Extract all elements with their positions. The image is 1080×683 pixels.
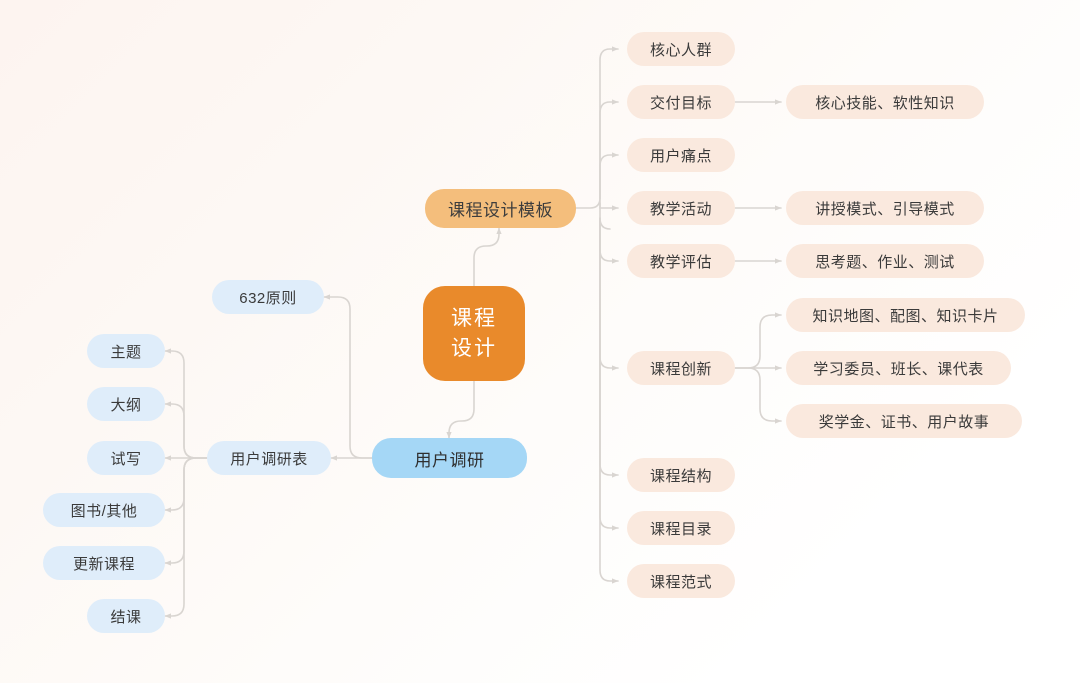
node-survey-trial-writing[interactable]: 试写 [87,441,165,475]
node-label: 思考题、作业、测试 [815,251,955,272]
node-course-structure[interactable]: 课程结构 [627,458,735,492]
node-user-survey-form[interactable]: 用户调研表 [207,441,331,475]
node-label: 大纲 [110,394,141,415]
node-label: 核心人群 [650,39,712,60]
node-user-research[interactable]: 用户调研 [372,438,527,478]
node-delivery-goal-detail[interactable]: 核心技能、软性知识 [786,85,984,119]
node-core-audience[interactable]: 核心人群 [627,32,735,66]
node-label: 课程范式 [650,571,712,592]
node-course-catalog[interactable]: 课程目录 [627,511,735,545]
node-label: 用户调研表 [230,448,308,469]
node-teaching-activities-detail[interactable]: 讲授模式、引导模式 [786,191,984,225]
node-root[interactable]: 课程 设计 [423,286,525,381]
node-label: 教学活动 [650,198,712,219]
node-teaching-activities[interactable]: 教学活动 [627,191,735,225]
node-root-line1: 课程 [451,304,497,334]
node-user-pain-points[interactable]: 用户痛点 [627,138,735,172]
node-label: 学习委员、班长、课代表 [813,358,984,379]
node-survey-topic[interactable]: 主题 [87,334,165,368]
node-label: 632原则 [239,287,297,308]
node-label: 讲授模式、引导模式 [815,198,955,219]
node-632-principle[interactable]: 632原则 [212,280,324,314]
node-label: 结课 [110,606,141,627]
node-delivery-goal[interactable]: 交付目标 [627,85,735,119]
node-label: 课程设计模板 [448,196,553,221]
node-course-innovation[interactable]: 课程创新 [627,351,735,385]
node-label: 主题 [110,341,141,362]
node-label: 试写 [110,448,141,469]
node-innovation-roles[interactable]: 学习委员、班长、课代表 [786,351,1011,385]
node-innovation-knowledge-map[interactable]: 知识地图、配图、知识卡片 [786,298,1025,332]
node-survey-books-other[interactable]: 图书/其他 [43,493,165,527]
node-label: 更新课程 [73,553,135,574]
node-label: 课程结构 [650,465,712,486]
node-teaching-assessment[interactable]: 教学评估 [627,244,735,278]
node-label: 用户痛点 [650,145,712,166]
node-label: 奖学金、证书、用户故事 [819,411,990,432]
mindmap-canvas: 课程 设计 课程设计模板 用户调研 核心人群 交付目标 用户痛点 教学活动 教学… [0,0,1080,683]
node-label: 课程目录 [650,518,712,539]
node-innovation-incentives[interactable]: 奖学金、证书、用户故事 [786,404,1022,438]
node-label: 教学评估 [650,251,712,272]
node-label: 课程创新 [650,358,712,379]
node-teaching-assessment-detail[interactable]: 思考题、作业、测试 [786,244,984,278]
node-label: 用户调研 [415,446,485,471]
node-course-design-template[interactable]: 课程设计模板 [425,189,576,228]
node-label: 知识地图、配图、知识卡片 [812,305,998,326]
node-label: 交付目标 [650,92,712,113]
node-course-paradigm[interactable]: 课程范式 [627,564,735,598]
node-survey-course-end[interactable]: 结课 [87,599,165,633]
node-label: 图书/其他 [71,500,138,521]
node-survey-course-update[interactable]: 更新课程 [43,546,165,580]
node-survey-outline[interactable]: 大纲 [87,387,165,421]
node-root-line2: 设计 [451,334,497,364]
node-label: 核心技能、软性知识 [815,92,955,113]
